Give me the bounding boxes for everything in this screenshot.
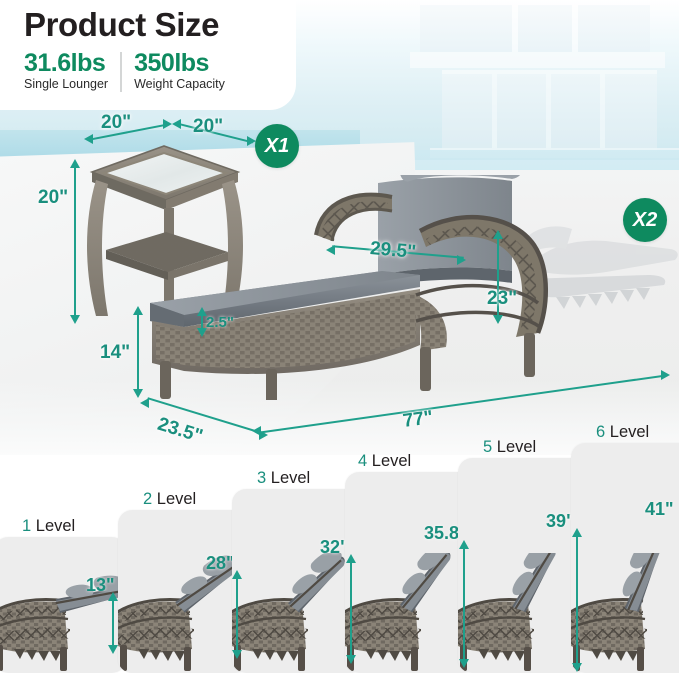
table-width-left-arrow-start (84, 134, 93, 144)
recline-level-word: Level (31, 517, 75, 535)
recline-chair-illustration (0, 553, 126, 673)
recline-height-arrow-top-5 (572, 528, 582, 537)
recline-height-label-2: 28" (206, 553, 235, 574)
recline-level-card-6 (571, 443, 679, 673)
length-arrow-end (661, 370, 670, 380)
recline-height-arrow-bottom-2 (232, 650, 242, 659)
cushion-thickness-label: 2.5" (206, 314, 234, 331)
recline-level-word: Level (152, 490, 196, 508)
stats-divider (120, 52, 122, 92)
recline-level-number: 3 (257, 469, 266, 487)
length-label: 77" (402, 407, 435, 433)
recline-height-arrow-top-2 (232, 570, 242, 579)
recline-height-line-2 (236, 577, 238, 652)
table-width-right-arrow-start (172, 119, 181, 129)
recline-level-number: 1 (22, 517, 31, 535)
seat-height-label: 14" (100, 342, 130, 364)
stat-value-weight: 31.6lbs (24, 50, 108, 76)
recline-level-label-2: 2 Level (143, 490, 196, 509)
recline-height-line-1 (112, 599, 114, 647)
seat-width-arrow-start (326, 245, 335, 255)
recline-level-word: Level (492, 438, 536, 456)
header-card: Product Size 31.6lbs Single Lounger 350l… (0, 0, 296, 110)
seat-width-arrow-end (457, 255, 466, 265)
seat-height-line (137, 313, 139, 391)
page-title: Product Size (24, 8, 219, 41)
recline-level-number: 5 (483, 438, 492, 456)
recline-height-arrow-bottom-3 (346, 655, 356, 664)
recline-height-arrow-top-1 (108, 592, 118, 601)
table-height-arrow-top (70, 159, 80, 168)
infographic-canvas: 20" 20" 20" X1 (0, 0, 679, 673)
stats-row: 31.6lbs Single Lounger 350lbs Weight Cap… (24, 50, 225, 92)
table-width-right-label: 20" (193, 116, 223, 138)
recline-levels-section: 1 Level13" (0, 425, 679, 673)
recline-level-number: 2 (143, 490, 152, 508)
recline-chair-illustration (571, 553, 679, 673)
stat-weight-capacity: 350lbs Weight Capacity (134, 50, 225, 92)
recline-level-label-1: 1 Level (22, 517, 75, 536)
recline-level-label-5: 5 Level (483, 438, 536, 457)
table-quantity-badge: X1 (255, 124, 299, 168)
seat-width-label: 29.5" (369, 238, 417, 264)
seat-height-arrow-top (133, 306, 143, 315)
recline-level-number: 6 (596, 423, 605, 441)
recline-level-label-6: 6 Level (596, 423, 649, 442)
chaise-lounger-illustration (120, 175, 600, 400)
recline-height-arrow-bottom-1 (108, 645, 118, 654)
arm-height-arrow-top (493, 230, 503, 239)
lounger-quantity-badge: X2 (623, 198, 667, 242)
recline-height-arrow-bottom-4 (459, 659, 469, 668)
recline-level-card-2 (118, 510, 250, 673)
table-height-arrow-bottom (70, 315, 80, 324)
recline-level-word: Level (367, 452, 411, 470)
recline-height-label-6: 41" (645, 499, 674, 520)
table-height-line (74, 166, 76, 317)
stat-value-capacity: 350lbs (134, 50, 225, 76)
recline-level-word: Level (605, 423, 649, 441)
stat-label-weight: Single Lounger (24, 77, 108, 91)
stat-label-capacity: Weight Capacity (134, 77, 225, 91)
recline-level-label-4: 4 Level (358, 452, 411, 471)
recline-level-label-3: 3 Level (257, 469, 310, 488)
table-width-left-label: 20" (101, 112, 131, 134)
recline-height-arrow-top-4 (459, 540, 469, 549)
table-width-left-arrow-end (163, 119, 172, 129)
table-height-label: 20" (38, 187, 68, 209)
recline-height-arrow-bottom-5 (572, 663, 582, 672)
seat-height-arrow-bottom (133, 389, 143, 398)
arm-height-label: 23" (487, 288, 517, 310)
recline-level-number: 4 (358, 452, 367, 470)
arm-height-arrow-bottom (493, 315, 503, 324)
recline-height-line-4 (463, 547, 465, 661)
recline-height-line-3 (350, 561, 352, 657)
stat-single-lounger: 31.6lbs Single Lounger (24, 50, 108, 92)
recline-height-line-5 (576, 535, 578, 665)
depth-arrow-end (259, 430, 268, 440)
depth-arrow-start (140, 398, 149, 408)
recline-height-arrow-top-3 (346, 554, 356, 563)
recline-level-word: Level (266, 469, 310, 487)
